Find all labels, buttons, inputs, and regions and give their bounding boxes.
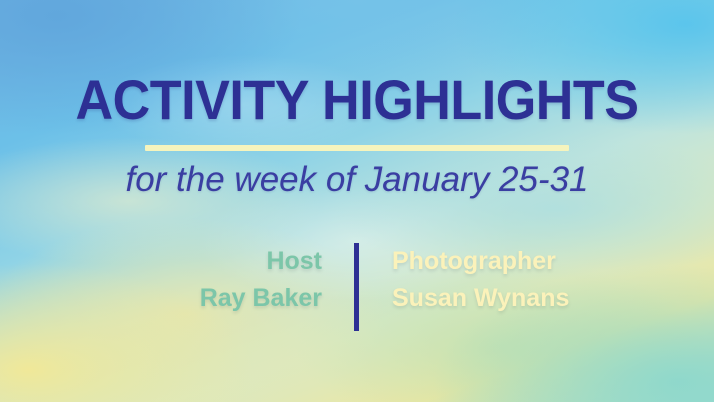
credit-column-photographer: Photographer Susan Wynans — [392, 243, 569, 317]
photographer-person-name: Susan Wynans — [392, 280, 569, 317]
credit-column-host: Host Ray Baker — [200, 243, 322, 317]
host-role-label: Host — [200, 243, 322, 280]
host-person-name: Ray Baker — [200, 280, 322, 317]
credits-vertical-divider — [354, 243, 359, 331]
slide-title: ACTIVITY HIGHLIGHTS — [25, 72, 689, 128]
title-slide: ACTIVITY HIGHLIGHTS for the week of Janu… — [0, 0, 714, 402]
credits-block: Host Ray Baker Photographer Susan Wynans — [0, 243, 714, 335]
title-divider-rule — [145, 145, 569, 151]
slide-subtitle: for the week of January 25-31 — [0, 160, 714, 200]
photographer-role-label: Photographer — [392, 243, 569, 280]
slide-content: ACTIVITY HIGHLIGHTS for the week of Janu… — [0, 0, 714, 402]
